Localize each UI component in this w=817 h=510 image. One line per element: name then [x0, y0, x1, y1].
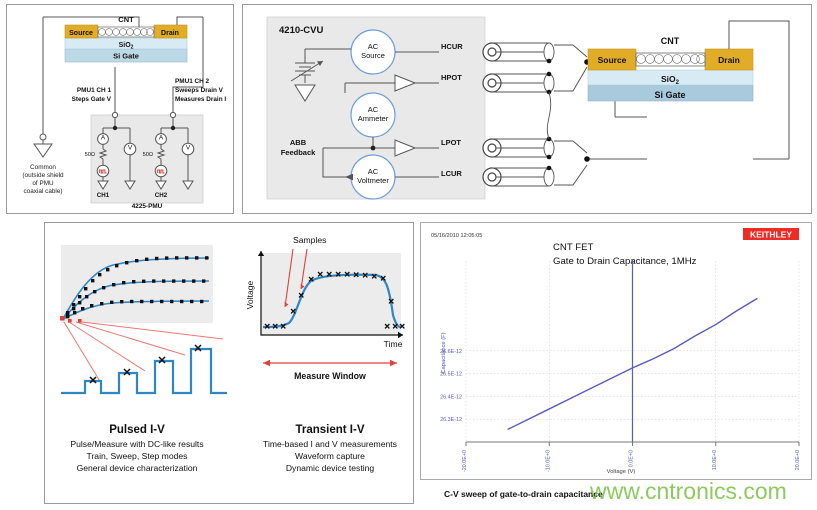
- pulsed-iv-callout-lines: [64, 322, 223, 383]
- common-ground-symbol: [34, 134, 52, 157]
- cnt-channel: [98, 27, 154, 37]
- pulsed-transient-iv-panel: Pulsed I-V Pulse/Measure with DC-like re…: [44, 222, 414, 504]
- svg-text:Sweeps Drain V: Sweeps Drain V: [175, 87, 224, 94]
- svg-text:ABB: ABB: [290, 138, 307, 147]
- svg-text:HPOT: HPOT: [441, 73, 462, 82]
- pmu-connection-panel: CNT Source Drain SiO2 Si Gate Common (ou…: [6, 4, 234, 214]
- cvu-source-label: Source: [598, 55, 627, 65]
- cv-x-tick-label: 0.0E+0: [629, 450, 635, 467]
- ch2-input-terminal: [170, 112, 175, 117]
- cv-timestamp: 05/16/2010 12:05:05: [431, 233, 482, 239]
- pulsed-iv-plot-area: [61, 245, 213, 323]
- cv-plot-caption: C-V sweep of gate-to-drain capacitance: [444, 489, 603, 499]
- ch2-node: [171, 126, 175, 130]
- cv-x-tick-label: -10.0E+0: [545, 450, 551, 472]
- ch2-voltmeter-label: V: [186, 145, 191, 152]
- ac-source-line2: Source: [361, 51, 385, 60]
- ch2-terminal-label: CH2: [155, 192, 168, 199]
- svg-text:PMU1 CH 1: PMU1 CH 1: [77, 87, 112, 94]
- si-gate-label: Si Gate: [113, 52, 139, 61]
- svg-text:of PMU: of PMU: [32, 180, 54, 187]
- pmu-instrument-label: 4225-PMU: [132, 203, 163, 210]
- cv-y-axis-label: Capacitance (F): [441, 332, 447, 373]
- svg-text:Steps Gate V: Steps Gate V: [72, 96, 112, 103]
- pulsed-iv-title: Pulsed I-V: [109, 424, 165, 436]
- ch1-input-terminal: [112, 112, 117, 117]
- common-ground-caption: Common (outside shield of PMU coaxial ca…: [22, 164, 64, 195]
- transient-voltage-axis-label: Voltage: [245, 280, 255, 309]
- ac-voltmeter-block: AC Voltmeter: [351, 155, 395, 199]
- cv-chart-title: CNT FET: [553, 242, 593, 253]
- svg-text:coaxial cable): coaxial cable): [23, 188, 62, 195]
- shield-bridge: [547, 92, 550, 139]
- svg-text:HCUR: HCUR: [441, 42, 463, 51]
- ch1-resistor-label: 50Ω: [85, 152, 95, 158]
- cvu-cnt-device-cross-section: CNT Source Drain SiO2 Si Gate: [588, 36, 753, 101]
- svg-text:LPOT: LPOT: [441, 138, 461, 147]
- measure-window-label: Measure Window: [294, 371, 366, 381]
- source-label: Source: [69, 30, 93, 37]
- ac-ammeter-block: AC Ammeter: [351, 93, 395, 137]
- transient-iv-title: Transient I-V: [295, 424, 364, 436]
- ac-voltmeter-line2: Voltmeter: [357, 176, 389, 185]
- svg-text:General device characterizatio: General device characterization: [77, 463, 198, 473]
- cvu-connection-panel: 4210-CVU AC Source AC Ammeter AC Voltmet…: [242, 4, 812, 214]
- ac-voltmeter-line1: AC: [368, 167, 379, 176]
- cvu-cnt-channel: [636, 53, 705, 66]
- coax-cables: [492, 43, 554, 186]
- ch1-terminal-label: CH1: [97, 192, 110, 199]
- svg-text:Dynamic device testing: Dynamic device testing: [286, 463, 375, 473]
- svg-text:PMU1 CH 2: PMU1 CH 2: [175, 78, 210, 85]
- cvu-si-gate-label: Si Gate: [654, 90, 685, 100]
- svg-text:Pulse/Measure with DC-like res: Pulse/Measure with DC-like results: [70, 439, 203, 449]
- cv-y-tick-label: 26.3E-12: [440, 417, 462, 423]
- cv-x-tick-label: 20.0E+0: [795, 450, 801, 470]
- transient-iv-bullets: Time-based I and V measurements Waveform…: [263, 439, 397, 473]
- svg-text:Time-based I and V measurement: Time-based I and V measurements: [263, 439, 397, 449]
- keithley-logo: KEITHLEY: [743, 228, 799, 240]
- ac-source-block: AC Source: [351, 30, 395, 74]
- ch2-resistor-label: 50Ω: [143, 152, 153, 158]
- cv-plot-panel: 05/16/2010 12:05:05 KEITHLEY CNT FET Gat…: [420, 222, 812, 480]
- pmu-ch1-annotation: PMU1 CH 1 Steps Gate V: [72, 87, 112, 103]
- ac-source-line1: AC: [368, 42, 379, 51]
- ch1-node: [113, 126, 117, 130]
- svg-text:Feedback: Feedback: [281, 148, 316, 157]
- cvu-drain-label: Drain: [718, 55, 740, 65]
- cvu-cnt-label: CNT: [661, 36, 680, 46]
- svg-text:Measures Drain I: Measures Drain I: [175, 96, 226, 103]
- svg-text:Common: Common: [30, 164, 56, 171]
- pmu-ch2-annotation: PMU1 CH 2 Sweeps Drain V Measures Drain …: [175, 78, 226, 103]
- transient-iv-plot-area: [261, 253, 401, 335]
- measure-window-arrow: [263, 360, 397, 366]
- pulsed-iv-bullets: Pulse/Measure with DC-like results Train…: [70, 439, 203, 473]
- ammeter-node: [371, 146, 376, 151]
- low-merge-node: [584, 156, 590, 162]
- cv-chart-subtitle: Gate to Drain Capacitance, 1MHz: [553, 256, 697, 267]
- cvu-title: 4210-CVU: [279, 25, 323, 36]
- ch1-ammeter-label: A: [101, 135, 106, 142]
- svg-text:Waveform capture: Waveform capture: [295, 451, 365, 461]
- cv-x-tick-label: -20.0E+0: [462, 450, 468, 472]
- keithley-logo-text: KEITHLEY: [750, 230, 792, 240]
- site-watermark: www.cntronics.com: [590, 478, 787, 505]
- ac-ammeter-line1: AC: [368, 105, 379, 114]
- ch1-voltmeter-label: V: [128, 145, 133, 152]
- cv-x-tick-label: 10.0E+0: [712, 450, 718, 470]
- cnt-device-cross-section: CNT Source Drain SiO2 Si Gate: [65, 15, 187, 62]
- samples-label: Samples: [293, 235, 326, 245]
- drain-label: Drain: [161, 30, 179, 37]
- transient-time-axis-label: Time: [384, 339, 403, 349]
- ch2-ammeter-label: A: [159, 135, 164, 142]
- cv-x-axis-label: Voltage (V): [607, 469, 636, 475]
- pulsed-iv-pulse-train: [61, 349, 227, 393]
- cv-y-tick-label: 26.4E-12: [440, 394, 462, 400]
- cnt-label: CNT: [118, 15, 134, 24]
- svg-text:Train, Sweep, Step modes: Train, Sweep, Step modes: [87, 451, 188, 461]
- svg-text:(outside shield: (outside shield: [22, 172, 64, 179]
- svg-text:LCUR: LCUR: [441, 169, 462, 178]
- pulsed-iv-sample-markers: [90, 345, 201, 383]
- ac-ammeter-line2: Ammeter: [358, 114, 389, 123]
- coax-connectors: [483, 43, 501, 186]
